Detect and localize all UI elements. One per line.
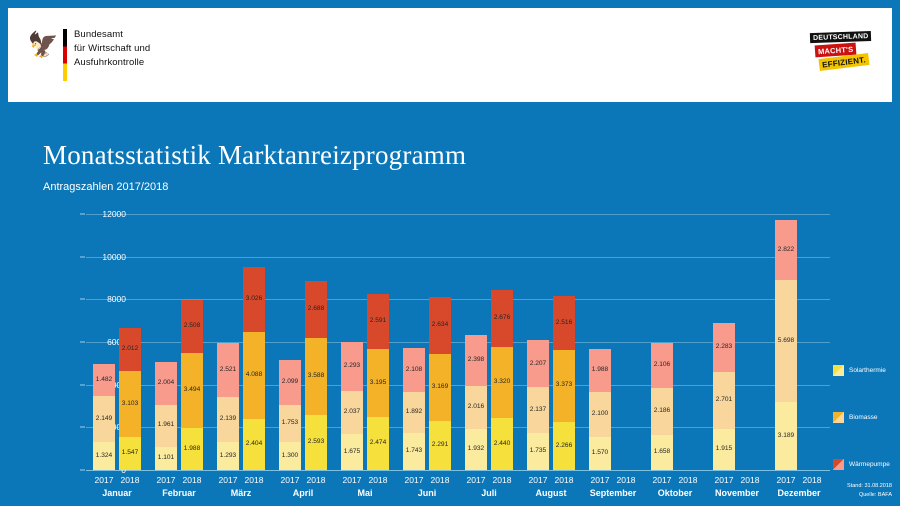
bar-value-label: 2.293 [344,363,361,370]
bar-value-label: 2.004 [158,380,175,387]
source-stand: Stand: 31.08.2018 [847,482,892,491]
page-title: Monatsstatistik Marktanreizprogramm [43,140,466,171]
bar-segment-waermepumpe: 2.822 [775,220,797,280]
page-subtitle: Antragszahlen 2017/2018 [43,181,168,193]
bar-mai-2018[interactable]: 2.5913.1952.474 [367,294,389,470]
bar-value-label: 2.139 [220,416,237,423]
bar-segment-solarthermie: 1.932 [465,429,487,470]
bar-segment-waermepumpe: 2.106 [651,343,673,388]
bar-value-label: 3.189 [778,433,795,440]
bar-value-label: 2.012 [122,346,139,353]
legend-swatch-icon [833,459,844,470]
bar-februar-2018[interactable]: 2.5083.4941.988 [181,300,203,470]
bar-value-label: 2.701 [716,397,733,404]
chart-group-november: 20172.2832.7011.9152018November [706,214,768,470]
bar-value-label: 3.103 [122,401,139,408]
bar-value-label: 2.593 [308,439,325,446]
bar-value-label: 2.016 [468,404,485,411]
bar-juli-2018[interactable]: 2.6763.3202.440 [491,290,513,470]
bar-segment-waermepumpe: 1.482 [93,364,115,396]
bar-segment-biomasse: 2.100 [589,392,611,437]
bar-value-label: 2.474 [370,440,387,447]
bar-april-2017[interactable]: 2.0991.7531.300 [279,360,301,470]
header-bar: 🦅 Bundesamt für Wirtschaft und Ausfuhrko… [8,8,892,102]
bar-value-label: 1.988 [184,446,201,453]
bar-segment-solarthermie: 1.915 [713,429,735,470]
bar-value-label: 2.149 [96,416,113,423]
bar-value-label: 3.169 [432,384,449,391]
y-axis-tick [80,427,85,428]
bar-segment-solarthermie: 1.293 [217,442,239,470]
bar-segment-biomasse: 2.016 [465,386,487,429]
y-axis-tick [80,470,85,471]
ministry-name: Bundesamt für Wirtschaft und Ausfuhrkont… [74,28,150,69]
bar-value-label: 2.137 [530,407,547,414]
bar-segment-biomasse: 3.494 [181,353,203,428]
chart-group-mai: 20172.2932.0371.67520182.5913.1952.474Ma… [334,214,396,470]
y-axis-tick [80,342,85,343]
bar-value-label: 4.088 [246,372,263,379]
bar-value-label: 1.101 [158,455,175,462]
bar-april-2018[interactable]: 2.6883.5882.593 [305,281,327,470]
bar-value-label: 2.291 [432,442,449,449]
bar-segment-waermepumpe: 2.688 [305,281,327,338]
bar-august-2018[interactable]: 2.5163.3732.266 [553,296,575,470]
bar-value-label: 1.482 [96,377,113,384]
source-note: Stand: 31.08.2018 Quelle: BAFA [847,482,892,500]
bar-value-label: 2.521 [220,367,237,374]
bar-juni-2018[interactable]: 2.6343.1692.291 [429,297,451,470]
bar-segment-solarthermie: 2.291 [429,421,451,470]
legend-label: Biomasse [849,414,878,421]
y-axis-tick [80,214,85,215]
bar-segment-biomasse: 1.753 [279,405,301,442]
bar-segment-biomasse: 3.103 [119,371,141,437]
german-flag-bar-icon [63,29,67,81]
bar-value-label: 2.108 [406,367,423,374]
bar-segment-waermepumpe: 2.398 [465,335,487,386]
bar-value-label: 2.283 [716,344,733,351]
ministry-line-3: Ausfuhrkontrolle [74,56,150,70]
bar-segment-solarthermie: 1.658 [651,435,673,470]
bar-september-2017[interactable]: 1.9882.1001.570 [589,349,611,470]
y-axis-tick [80,384,85,385]
bar-value-label: 3.195 [370,380,387,387]
bar-segment-solarthermie: 1.547 [119,437,141,470]
bar-segment-biomasse: 4.088 [243,332,265,419]
bar-mai-2017[interactable]: 2.2932.0371.675 [341,342,363,470]
bar-value-label: 2.099 [282,379,299,386]
bar-value-label: 2.037 [344,409,361,416]
bar-segment-solarthermie: 3.189 [775,402,797,470]
legend-item-wärmepumpe[interactable]: Wärmepumpe [833,459,890,470]
bar-value-label: 2.404 [246,441,263,448]
bar-segment-waermepumpe: 2.591 [367,294,389,349]
legend-label: Wärmepumpe [849,461,890,468]
bar-value-label: 1.753 [282,420,299,427]
legend-swatch-icon [833,365,844,376]
bar-value-label: 2.634 [432,322,449,329]
legend-item-solarthermie[interactable]: Solarthermie [833,365,890,376]
bar-segment-biomasse: 2.701 [713,372,735,430]
bar-segment-biomasse: 2.037 [341,391,363,434]
bar-segment-waermepumpe: 2.283 [713,323,735,372]
bar-value-label: 1.735 [530,448,547,455]
ministry-line-2: für Wirtschaft und [74,42,150,56]
bar-segment-biomasse: 2.139 [217,397,239,443]
bar-märz-2017[interactable]: 2.5212.1391.293 [217,343,239,470]
x-axis-year-label: 2018 [790,475,834,485]
x-axis-month-label: Dezember [754,488,844,498]
bar-segment-solarthermie: 1.570 [589,437,611,470]
bar-januar-2017[interactable]: 1.4822.1491.324 [93,364,115,470]
chart-group-september: 20171.9882.1001.5702018September [582,214,644,470]
bar-segment-solarthermie: 1.101 [155,447,177,470]
bar-oktober-2017[interactable]: 2.1062.1861.658 [651,343,673,470]
bar-segment-solarthermie: 2.440 [491,418,513,470]
bar-segment-waermepumpe: 2.099 [279,360,301,405]
chart-group-august: 20172.2072.1371.73520182.5163.3732.266Au… [520,214,582,470]
deutschland-macht-s-effizient-logo: DEUTSCHLAND MACHT'S EFFIZIENT. [808,32,870,72]
bar-value-label: 1.675 [344,449,361,456]
bar-value-label: 1.570 [592,450,609,457]
bar-segment-solarthermie: 2.474 [367,417,389,470]
bar-segment-biomasse: 3.320 [491,347,513,418]
bar-segment-waermepumpe: 1.988 [589,349,611,391]
bar-value-label: 2.207 [530,361,547,368]
bar-segment-waermepumpe: 3.026 [243,267,265,332]
bar-value-label: 1.892 [406,409,423,416]
bar-segment-biomasse: 3.373 [553,350,575,422]
chart-group-dezember: 20172.8225.6983.1892018Dezember [768,214,830,470]
bar-value-label: 2.822 [778,247,795,254]
bar-value-label: 2.398 [468,357,485,364]
bar-segment-solarthermie: 1.988 [181,428,203,470]
bar-segment-solarthermie: 2.404 [243,419,265,470]
bar-value-label: 2.186 [654,408,671,415]
chart-group-oktober: 20172.1062.1861.6582018Oktober [644,214,706,470]
bar-value-label: 3.026 [246,296,263,303]
bar-segment-waermepumpe: 2.108 [403,348,425,393]
bar-segment-biomasse: 2.137 [527,387,549,433]
chart-group-märz: 20172.5212.1391.29320183.0264.0882.404Mä… [210,214,272,470]
bar-januar-2018[interactable]: 2.0123.1031.547 [119,328,141,470]
bar-value-label: 5.698 [778,338,795,345]
bar-segment-biomasse: 2.149 [93,396,115,442]
chart-group-januar: 20171.4822.1491.32420182.0123.1031.547Ja… [86,214,148,470]
bar-value-label: 2.266 [556,443,573,450]
bar-juni-2017[interactable]: 2.1081.8921.743 [403,348,425,471]
bar-dezember-2017[interactable]: 2.8225.6983.189 [775,220,797,470]
bar-value-label: 2.516 [556,320,573,327]
bar-november-2017[interactable]: 2.2832.7011.915 [713,323,735,470]
bar-segment-solarthermie: 1.300 [279,442,301,470]
bar-value-label: 2.591 [370,318,387,325]
bar-segment-biomasse: 2.186 [651,388,673,435]
bar-value-label: 3.373 [556,382,573,389]
bar-august-2017[interactable]: 2.2072.1371.735 [527,340,549,470]
legend-item-biomasse[interactable]: Biomasse [833,412,890,423]
bar-segment-waermepumpe: 2.293 [341,342,363,391]
bar-value-label: 1.988 [592,367,609,374]
chart-group-april: 20172.0991.7531.30020182.6883.5882.593Ap… [272,214,334,470]
bar-segment-solarthermie: 1.735 [527,433,549,470]
bar-value-label: 1.932 [468,446,485,453]
bar-segment-biomasse: 3.195 [367,349,389,417]
bar-value-label: 2.676 [494,315,511,322]
bar-februar-2017[interactable]: 2.0041.9611.101 [155,362,177,470]
legend-label: Solarthermie [849,367,886,374]
bar-value-label: 1.324 [96,453,113,460]
bar-value-label: 1.961 [158,422,175,429]
bar-value-label: 2.688 [308,306,325,313]
bar-segment-waermepumpe: 2.207 [527,340,549,387]
chart-plot-area: 02000400060008000100001200020171.4822.14… [86,214,830,470]
chart-group-juni: 20172.1081.8921.74320182.6343.1692.291Ju… [396,214,458,470]
gridline [86,470,830,471]
bar-segment-solarthermie: 2.593 [305,415,327,470]
bar-value-label: 1.743 [406,448,423,455]
bar-value-label: 3.588 [308,373,325,380]
bar-segment-biomasse: 5.698 [775,280,797,402]
badge-line-1: DEUTSCHLAND [810,31,872,43]
bar-value-label: 2.508 [184,323,201,330]
bar-segment-solarthermie: 1.743 [403,433,425,470]
bar-value-label: 2.100 [592,411,609,418]
bar-value-label: 1.915 [716,446,733,453]
federal-eagle-icon: 🦅 [30,30,56,60]
bar-value-label: 3.320 [494,379,511,386]
bar-märz-2018[interactable]: 3.0264.0882.404 [243,267,265,470]
bar-value-label: 1.293 [220,453,237,460]
source-quelle: Quelle: BAFA [847,491,892,500]
bar-value-label: 1.658 [654,449,671,456]
bar-juli-2017[interactable]: 2.3982.0161.932 [465,335,487,470]
bar-value-label: 1.547 [122,450,139,457]
bar-segment-solarthermie: 2.266 [553,422,575,470]
bar-segment-solarthermie: 1.675 [341,434,363,470]
chart-group-juli: 20172.3982.0161.93220182.6763.3202.440Ju… [458,214,520,470]
chart-group-februar: 20172.0041.9611.10120182.5083.4941.988Fe… [148,214,210,470]
y-axis-tick [80,299,85,300]
bar-value-label: 2.440 [494,441,511,448]
y-axis-tick [80,256,85,257]
bar-segment-biomasse: 3.588 [305,338,327,415]
bar-segment-waermepumpe: 2.012 [119,328,141,371]
bar-segment-solarthermie: 1.324 [93,442,115,470]
bar-value-label: 3.494 [184,387,201,394]
bar-segment-waermepumpe: 2.634 [429,297,451,353]
legend-swatch-icon [833,412,844,423]
ministry-line-1: Bundesamt [74,28,150,42]
bar-segment-biomasse: 3.169 [429,354,451,422]
bar-segment-biomasse: 1.961 [155,405,177,447]
bar-segment-waermepumpe: 2.004 [155,362,177,405]
bar-segment-biomasse: 1.892 [403,392,425,432]
bar-segment-waermepumpe: 2.676 [491,290,513,347]
chart-container: 02000400060008000100001200020171.4822.14… [40,214,830,470]
bafa-logo: 🦅 Bundesamt für Wirtschaft und Ausfuhrko… [30,28,150,81]
bar-value-label: 2.106 [654,362,671,369]
bar-value-label: 1.300 [282,453,299,460]
bar-segment-waermepumpe: 2.508 [181,300,203,354]
bar-segment-waermepumpe: 2.516 [553,296,575,350]
bar-segment-waermepumpe: 2.521 [217,343,239,397]
